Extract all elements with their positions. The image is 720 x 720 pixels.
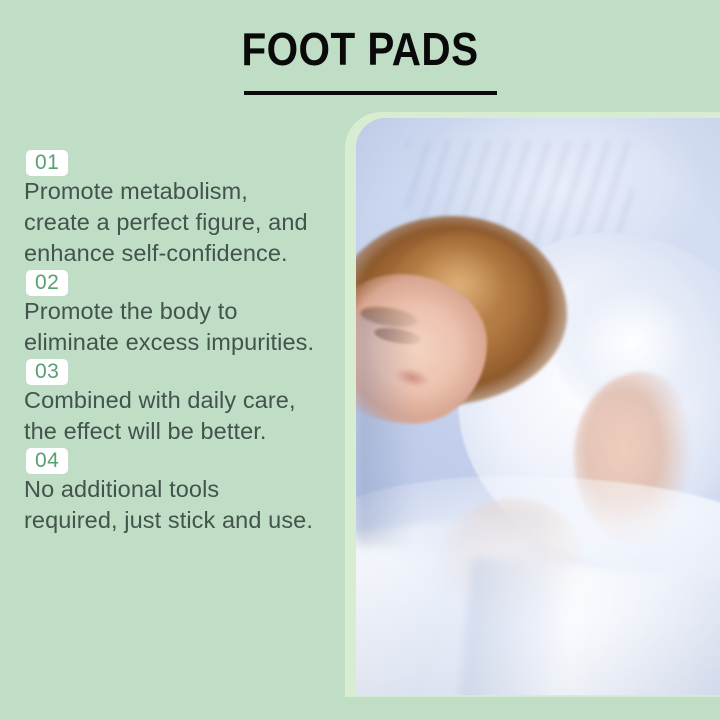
- feature-description: No additional tools required, just stick…: [24, 474, 330, 536]
- title-block: FOOT PADS: [0, 26, 720, 72]
- product-lifestyle-photo: [356, 118, 720, 695]
- feature-description: Combined with daily care, the effect wil…: [24, 385, 330, 447]
- list-item: 01 Promote metabolism, create a perfect …: [0, 150, 330, 269]
- feature-description: Promote metabolism, create a perfect fig…: [24, 176, 330, 269]
- feature-description: Promote the body to eliminate excess imp…: [24, 296, 330, 358]
- feature-number-badge: 01: [26, 150, 68, 176]
- list-item: 02 Promote the body to eliminate excess …: [0, 270, 330, 358]
- list-item: 04 No additional tools required, just st…: [0, 448, 330, 536]
- title-divider: [244, 91, 497, 95]
- feature-number-badge: 04: [26, 448, 68, 474]
- feature-number-badge: 02: [26, 270, 68, 296]
- feature-number-badge: 03: [26, 359, 68, 385]
- list-item: 03 Combined with daily care, the effect …: [0, 359, 330, 447]
- photo-vignette: [356, 118, 720, 695]
- page-title: FOOT PADS: [43, 26, 677, 72]
- product-poster: FOOT PADS 01 Promote metabolism, create …: [0, 0, 720, 720]
- feature-list: 01 Promote metabolism, create a perfect …: [0, 150, 330, 537]
